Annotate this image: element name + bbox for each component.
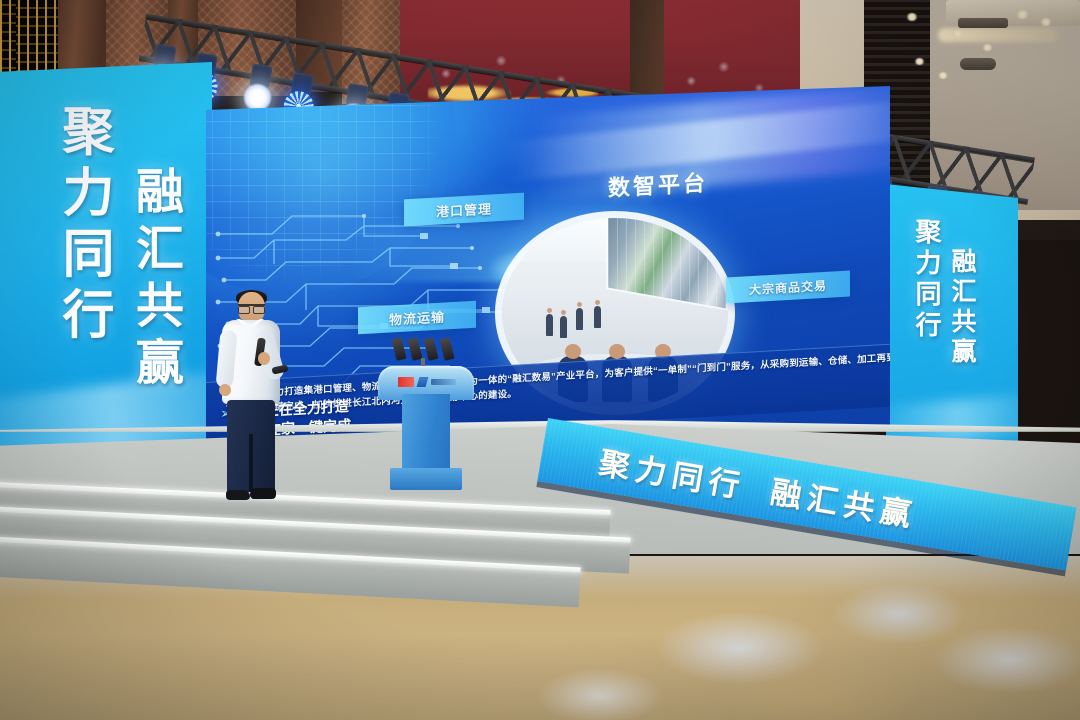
presenter-right-hand [258, 352, 270, 365]
video-wall [608, 218, 726, 308]
presenter-right-shoe [250, 488, 276, 499]
calligraphy-right-line-1: 聚力同行 [908, 218, 945, 342]
calligraphy-left-line-2: 融汇共赢 [120, 166, 190, 394]
ceiling-downlight [1040, 18, 1052, 26]
logo-blue-mark-icon [417, 377, 429, 387]
chip-bulk-commodity-trading[interactable]: 大宗商品交易 [726, 271, 850, 304]
background-person [560, 316, 567, 338]
ceiling-downlight [938, 72, 948, 79]
ceiling-downlight [914, 58, 925, 65]
stage-light-white [241, 63, 278, 111]
presenter-left-hand [219, 384, 231, 396]
logo-wordmark [431, 379, 456, 385]
ceiling-downlight [1016, 10, 1029, 19]
calligraphy-right-line-2: 融汇共赢 [944, 248, 980, 368]
lectern-base [390, 468, 462, 490]
background-person [546, 314, 553, 336]
glasses-icon [238, 304, 265, 312]
stage-photo-scene: 聚力同行 融汇共赢 聚力同行 融汇共赢 [0, 0, 1080, 720]
ceiling-speaker [960, 58, 996, 70]
microphone-cluster [392, 338, 456, 368]
ceiling-downlight [982, 44, 993, 51]
main-led-screen: 数智平台 港口管理 物流运输 大宗商品交易 [206, 86, 890, 440]
podium-microphone [439, 337, 454, 361]
lectern-logo [398, 375, 456, 388]
logo-red-mark-icon [398, 377, 414, 387]
background-person [594, 306, 601, 328]
lectern-column [402, 394, 450, 472]
presenter [214, 292, 286, 508]
background-person [576, 308, 583, 330]
podium-microphone [423, 337, 438, 361]
calligraphy-left-line-1: 聚力同行 [46, 104, 121, 348]
podium-microphone [391, 337, 406, 361]
ceiling-downlight [952, 30, 964, 38]
presenter-left-shoe [226, 490, 250, 500]
presenter-trousers [227, 400, 275, 492]
ceiling-vent [958, 18, 1008, 28]
lectern [378, 332, 474, 500]
ceiling-downlight [906, 13, 918, 21]
